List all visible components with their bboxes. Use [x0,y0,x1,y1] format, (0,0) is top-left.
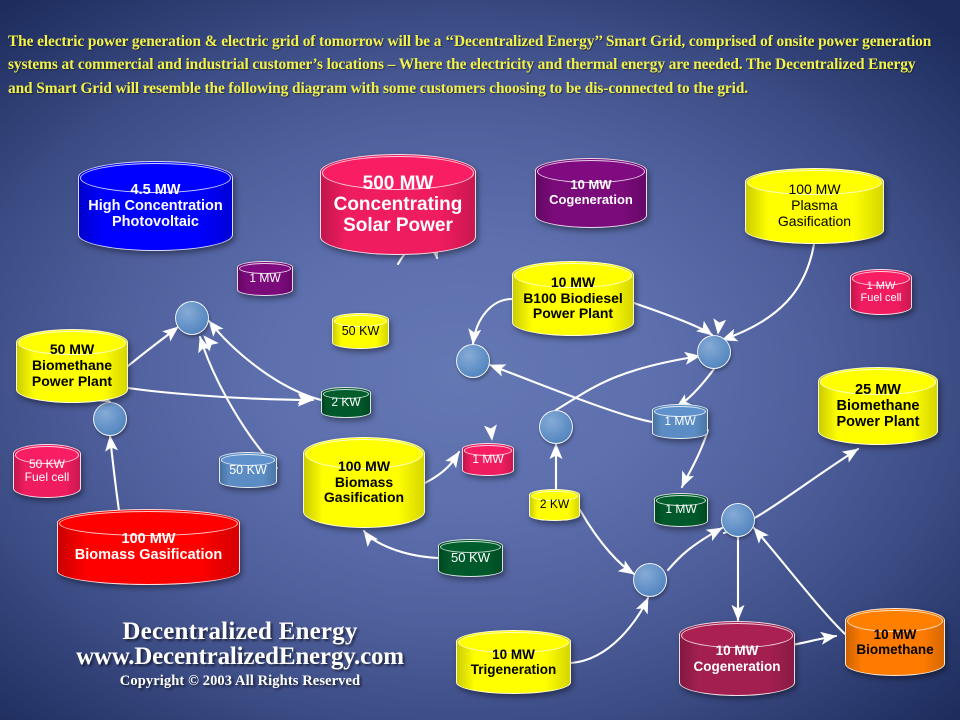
cylinder-label-line: Biomethane [850,642,940,657]
link-biomassyellow-to-mw1crimson [425,452,459,483]
grid-hub-node[interactable] [456,344,490,378]
cylinder-node-kw50-green[interactable]: 50 KW [438,539,503,577]
cylinder-label-line: 50 KW [224,463,272,477]
cylinder-node-mw1-lblue[interactable]: 1 MW [652,404,708,439]
cylinder-node-kw50-lblue[interactable]: 50 KW [219,452,277,488]
cylinder-label: 10 MWB100 BiodieselPower Plant [513,275,633,322]
link-biomassred-to-hub-e [110,436,120,518]
cylinder-label-line: 50 KW [18,458,76,471]
cylinder-label-line: Biomethane [21,358,123,374]
link-plasma-down [718,244,737,334]
link-bio50-to-kw2green [128,388,313,400]
link-b100-to-hub-d [634,303,712,335]
cylinder-label-line: Photovoltaic [83,214,228,230]
cylinder-label-line: 50 MW [21,342,123,358]
cylinder-label-line: 4.5 MW [83,182,228,198]
cylinder-node-biomethane[interactable]: 10 MWBiomethane [845,608,945,676]
cylinder-label-line: High Concentration [83,198,228,214]
cylinder-label-line: Gasification [308,490,420,506]
footer-website[interactable]: www.DecentralizedEnergy.com [40,643,440,671]
cylinder-label: 10 MWBiomethane [846,627,944,657]
cylinder-label-line: 100 MW [62,531,235,547]
grid-hub-node[interactable] [697,335,731,369]
cylinder-label-line: 100 MW [750,182,879,198]
cylinder-label: 500 MWConcentratingSolar Power [321,173,475,237]
cylinder-label-line: 50 KW [337,324,384,338]
link-hub-f-to-hub-g [668,528,722,570]
cylinder-label-line: 100 MW [308,459,420,475]
cylinder-label-line: 2 KW [534,498,575,511]
cylinder-label: 25 MWBiomethanePower Plant [819,382,937,431]
footer-title: Decentralized Energy [40,618,440,646]
cylinder-node-b100[interactable]: 10 MWB100 BiodieselPower Plant [512,261,634,336]
cylinder-label: 2 KW [530,498,579,511]
cylinder-node-cogen-top[interactable]: 10 MWCogeneration [535,158,647,228]
cylinder-label-line: 1 MW [657,415,703,428]
diagram-canvas: The electric power generation & electric… [0,0,960,720]
cylinder-label-line: 1 MW [467,453,509,466]
cylinder-node-kw2-yellow[interactable]: 2 KW [529,489,580,521]
cylinder-label: 100 MWBiomassGasification [304,459,424,506]
grid-hub-node[interactable] [93,402,127,436]
cylinder-node-plasma[interactable]: 100 MWPlasmaGasification [745,168,884,244]
cylinder-label: 10 MWCogeneration [680,643,794,673]
cylinder-node-mw1-green[interactable]: 1 MW [654,493,708,527]
cylinder-label-line: Biomass [308,475,420,491]
cylinder-label: 4.5 MWHigh ConcentrationPhotovoltaic [79,182,232,231]
grid-hub-node[interactable] [633,563,667,597]
cylinder-label-line: 500 MW [325,173,471,194]
cylinder-label: 100 MWBiomass Gasification [58,531,239,563]
cylinder-label-line: Fuel cell [18,471,76,484]
footer-copyright: Copyright © 2003 All Rights Reserved [40,673,440,690]
cylinder-label: 1 MW [655,503,707,516]
link-hub-d-to-mw1lblue [676,369,714,408]
cylinder-label-line: Power Plant [517,306,629,322]
cylinder-label: 2 KW [322,396,370,409]
cylinder-label-line: 50 KW [443,551,498,566]
cylinder-node-mw1-crimson[interactable]: 1 MW [462,443,514,476]
link-kw2yellow-to-hub-f [580,510,634,574]
cylinder-label: 50 MWBiomethanePower Plant [17,342,127,389]
cylinder-node-kw50-yellow[interactable]: 50 KW [332,313,389,349]
cylinder-label: 10 MWTrigeneration [457,647,570,677]
cylinder-label-line: Power Plant [823,414,933,430]
link-trigen-to-hub-f [571,598,648,663]
link-biomethane-to-hub-g [754,528,845,634]
link-b100-to-hub-b [473,299,512,344]
cylinder-node-csp[interactable]: 500 MWConcentratingSolar Power [320,154,476,255]
cylinder-label-line: 1 MW [855,280,907,292]
cylinder-node-cogen-bot[interactable]: 10 MWCogeneration [679,621,795,696]
cylinder-node-mw1-purple[interactable]: 1 MW [237,261,293,296]
cylinder-label: 50 KWFuel cell [14,458,80,485]
cylinder-label: 1 MW [653,415,707,428]
cylinder-label-line: Gasification [750,214,879,230]
cylinder-node-biomass100r[interactable]: 100 MWBiomass Gasification [57,509,240,585]
cylinder-label-line: Cogeneration [540,193,642,208]
cylinder-label: 50 KW [333,324,388,338]
cylinder-node-fuel-1mw[interactable]: 1 MWFuel cell [850,269,912,315]
cylinder-label-line: 10 MW [850,627,940,642]
cylinder-label: 1 MWFuel cell [851,280,911,305]
cylinder-label-line: 10 MW [540,178,642,193]
cylinder-label-line: Trigeneration [461,662,566,677]
cylinder-label-line: B100 Biodiesel [517,291,629,307]
cylinder-label-line: Biomass Gasification [62,547,235,563]
cylinder-label: 100 MWPlasmaGasification [746,182,883,229]
link-hub-b-down [473,378,492,440]
cylinder-label: 1 MW [463,453,513,466]
cylinder-label-line: 25 MW [823,382,933,398]
link-kw50green-to-biomass [364,531,438,558]
link-kw2green-to-hub-a [209,321,321,400]
footer-block: Decentralized Energy www.DecentralizedEn… [40,618,440,690]
grid-hub-node[interactable] [175,301,209,335]
cylinder-label-line: 10 MW [684,643,790,658]
cylinder-label: 10 MWCogeneration [536,178,646,207]
cylinder-label-line: 10 MW [461,647,566,662]
cylinder-node-trigen[interactable]: 10 MWTrigeneration [456,630,571,694]
link-hub-c-to-hub-d [556,356,700,410]
cylinder-node-biomass100y[interactable]: 100 MWBiomassGasification [303,437,425,528]
cylinder-node-hcpv[interactable]: 4.5 MWHigh ConcentrationPhotovoltaic [78,161,233,251]
cylinder-label-line: Biomethane [823,398,933,414]
cylinder-label-line: Power Plant [21,374,123,390]
cylinder-label-line: 2 KW [326,396,366,409]
cylinder-label: 50 KW [439,551,502,566]
grid-hub-node[interactable] [539,410,573,444]
cylinder-label-line: Plasma [750,198,879,214]
cylinder-label-line: Solar Power [325,215,471,236]
cylinder-label-line: 10 MW [517,275,629,291]
cylinder-label-line: Concentrating [325,194,471,215]
cylinder-node-bio25[interactable]: 25 MWBiomethanePower Plant [818,367,938,445]
cylinder-label-line: 1 MW [659,503,703,516]
cylinder-node-fuel-50kw[interactable]: 50 KWFuel cell [13,444,81,498]
cylinder-label: 50 KW [220,463,276,477]
cylinder-label-line: 1 MW [242,272,288,285]
cylinder-label-line: Cogeneration [684,659,790,674]
cylinder-node-kw2-green[interactable]: 2 KW [321,387,371,418]
cylinder-label-line: Fuel cell [855,292,907,304]
cylinder-node-bio50[interactable]: 50 MWBiomethanePower Plant [16,329,128,403]
cylinder-label: 1 MW [238,272,292,285]
grid-hub-node[interactable] [721,503,755,537]
link-bio50-to-hub-a [128,327,178,366]
